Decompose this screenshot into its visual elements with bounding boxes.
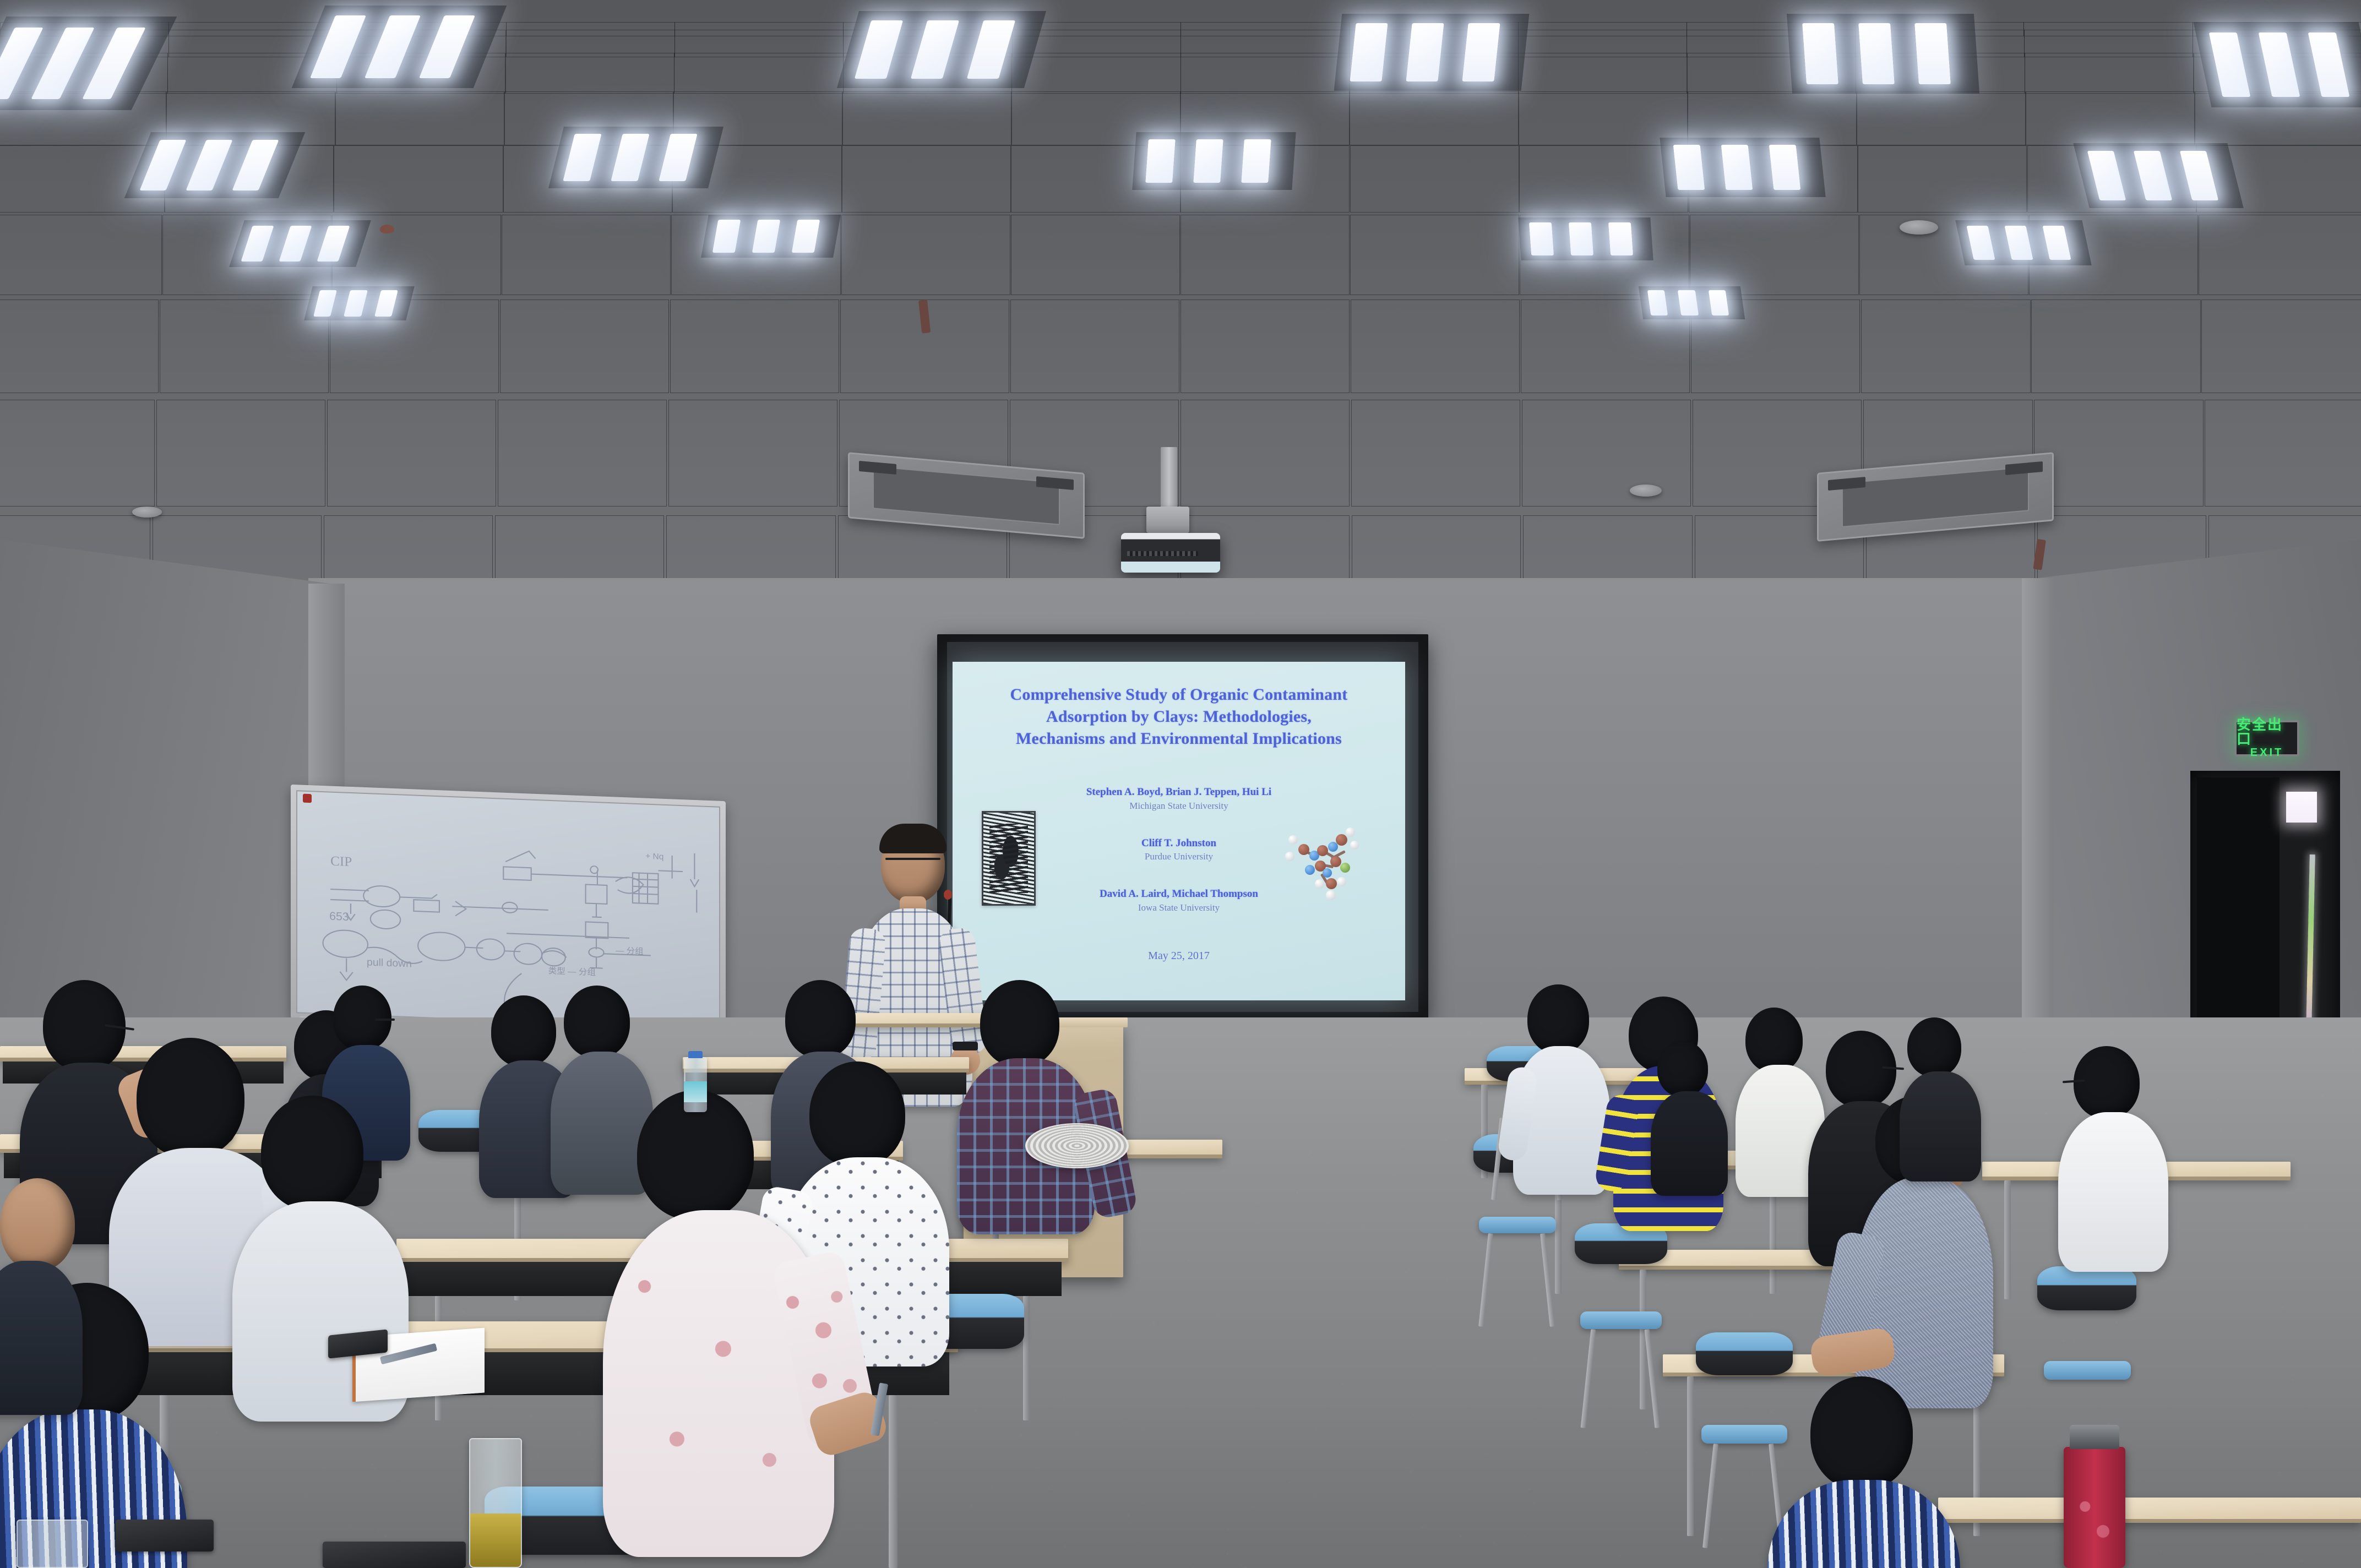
ceiling-light-fixture — [124, 132, 305, 198]
fluorescent-tube — [374, 290, 398, 316]
ceiling-light-fixture — [1955, 220, 2091, 265]
ceiling-tile — [1011, 215, 1180, 295]
ceiling-tile — [841, 215, 1010, 295]
fluorescent-tube — [1858, 23, 1895, 84]
fluorescent-tube — [310, 15, 366, 78]
fluorescent-tube — [855, 20, 903, 79]
lecture-hall-photo: 安全出口 EXIT 消火栓 CIP 653 — [0, 0, 2361, 1568]
woodcut-emblem-icon — [982, 811, 1036, 906]
attendee-torso — [2058, 1112, 2168, 1272]
atom-carbon — [1330, 856, 1341, 867]
svg-text:CIP: CIP — [330, 854, 352, 869]
author-group-1: Stephen A. Boyd, Brian J. Teppen, Hui Li… — [989, 785, 1369, 813]
desk — [1938, 1498, 2361, 1568]
fluorescent-tube — [313, 290, 337, 316]
fluorescent-tube — [2043, 226, 2071, 260]
exit-sign-chinese-label: 安全出口 — [2237, 717, 2297, 746]
ceiling-tile — [2026, 91, 2195, 145]
atom-hydrogen — [1285, 852, 1294, 861]
smoke-detector — [1630, 484, 1662, 497]
fluorescent-tube — [911, 20, 959, 79]
fluorescent-tube — [140, 140, 186, 190]
atom-hydrogen — [1337, 877, 1346, 886]
glass-cup[interactable] — [17, 1520, 88, 1568]
fluorescent-tube — [1608, 222, 1633, 255]
ceiling-tile — [2025, 53, 2194, 94]
svg-text:653: 653 — [329, 910, 349, 923]
fluorescent-tube — [2005, 226, 2033, 260]
sprinkler-head — [380, 225, 394, 233]
svg-text:类型 — 分组: 类型 — 分组 — [548, 966, 596, 977]
ceiling-tile — [156, 400, 325, 507]
atom-hydrogen — [1326, 890, 1336, 900]
fluorescent-tube — [2180, 151, 2218, 200]
projector — [1121, 533, 1220, 573]
ceiling-tile — [1180, 300, 1350, 393]
ceiling-tile — [0, 300, 159, 393]
fluorescent-tube — [1769, 145, 1801, 190]
atom-hydrogen — [1346, 827, 1355, 837]
fluorescent-tube — [1241, 139, 1271, 183]
water-bottle-cap — [688, 1051, 703, 1058]
fluorescent-tube — [1914, 23, 1951, 84]
ceiling-tile — [500, 300, 669, 393]
exit-sign-english-label: EXIT — [2250, 746, 2283, 759]
slide-title-line-2: Adsorption by Clays: Methodologies, — [966, 706, 1392, 728]
ceiling-light-fixture — [1639, 286, 1745, 319]
fluorescent-tube — [1529, 222, 1554, 255]
ceiling-light-fixture — [1132, 132, 1296, 190]
fluorescent-tube — [1647, 290, 1668, 315]
fluorescent-tube — [279, 226, 312, 262]
atom-nitrogen — [1323, 868, 1332, 878]
smoke-detector — [132, 507, 162, 518]
fluorescent-tube — [344, 290, 367, 316]
ceiling-light-fixture — [1518, 217, 1653, 260]
ceiling-tile — [2205, 400, 2361, 507]
red-thermos[interactable] — [2064, 1447, 2125, 1568]
fluorescent-tube — [241, 226, 274, 262]
water-bottle-label — [684, 1081, 707, 1102]
ceiling-light-fixture — [1334, 14, 1530, 91]
atom-nitrogen — [1305, 865, 1315, 875]
slide-title-line-3: Mechanisms and Environmental Implication… — [966, 728, 1392, 750]
fluorescent-tube — [1462, 23, 1500, 81]
ceiling-tile — [1180, 215, 1350, 295]
ceiling-tile — [1011, 53, 1180, 94]
slide-title: Comprehensive Study of Organic Contamina… — [966, 684, 1392, 750]
ceiling-tile — [2201, 300, 2361, 393]
ceiling-light-fixture — [1660, 138, 1825, 197]
fluorescent-tube — [1802, 23, 1838, 84]
fluorescent-tube — [563, 134, 602, 181]
ceiling-tile — [0, 215, 162, 295]
ceiling-tile — [1351, 300, 1520, 393]
attendee-torso — [551, 1052, 653, 1195]
ceiling-light-fixture — [701, 215, 841, 258]
fluorescent-tube — [31, 28, 95, 99]
water-bottle[interactable] — [684, 1057, 707, 1112]
ceiling-tile — [1861, 300, 2030, 393]
fluorescent-tube — [1350, 23, 1388, 81]
author-affiliation-1: Michigan State University — [989, 799, 1369, 813]
presentation-slide: Comprehensive Study of Organic Contamina… — [953, 662, 1405, 1000]
ceiling-tile — [2031, 300, 2200, 393]
fluorescent-tube — [1145, 139, 1176, 183]
ceiling-tile — [1180, 53, 1350, 94]
fluorescent-tube — [659, 134, 698, 181]
ceiling-tile — [1518, 53, 1687, 94]
ceiling-tile — [1350, 91, 1519, 145]
ceiling-tile — [334, 145, 503, 213]
ceiling-tile — [1180, 400, 1350, 507]
fluorescent-tube — [1678, 290, 1699, 315]
atom-chlorine — [1340, 863, 1350, 873]
ceiling-tile — [1857, 91, 2026, 145]
ceiling-tile — [1522, 400, 1691, 507]
author-names-1: Stephen A. Boyd, Brian J. Teppen, Hui Li — [989, 785, 1369, 799]
projector-mount — [1146, 507, 1189, 533]
atom-hydrogen — [1288, 835, 1298, 845]
ceiling-tile — [1350, 215, 1519, 295]
attendee-glasses — [375, 1019, 395, 1021]
ceiling-light-fixture — [548, 127, 723, 188]
fluorescent-tube — [1709, 290, 1729, 315]
fluorescent-tube — [1193, 139, 1223, 183]
ceiling-tile — [674, 53, 843, 94]
svg-text:pull down: pull down — [367, 957, 412, 970]
fluorescent-tube — [2208, 32, 2250, 97]
ceiling-light-fixture — [2073, 143, 2243, 208]
exit-sign: 安全出口 EXIT — [2234, 720, 2299, 756]
projector-pole — [1161, 447, 1177, 508]
ceiling-tile — [1858, 145, 2027, 213]
ceiling-tile — [1010, 300, 1179, 393]
ceiling-tile — [498, 400, 667, 507]
ceiling-tile — [160, 300, 329, 393]
presenter-head — [881, 826, 945, 903]
glass-tea-bottle[interactable] — [469, 1438, 522, 1568]
ceiling-light-fixture — [304, 286, 414, 320]
fluorescent-tube — [2087, 151, 2126, 200]
ceiling-light-fixture — [229, 220, 371, 267]
fluorescent-tube — [1406, 23, 1444, 81]
fluorescent-tube — [611, 134, 650, 181]
fluorescent-tube — [317, 226, 350, 262]
fluorescent-tube — [1569, 222, 1593, 255]
presenter-glasses — [885, 858, 940, 860]
fluorescent-tube — [365, 15, 421, 78]
slide-date: May 25, 2017 — [989, 950, 1369, 962]
thermos-cap[interactable] — [2070, 1425, 2119, 1449]
ceiling-tile — [668, 400, 837, 507]
atom-hydrogen — [1315, 879, 1324, 889]
attendee-torso — [1651, 1091, 1728, 1196]
fluorescent-tube — [967, 20, 1015, 79]
ceiling-tile — [502, 215, 671, 295]
fluorescent-tube — [712, 220, 741, 252]
svg-text:+ Nq: + Nq — [645, 852, 663, 862]
ceiling-tile — [2034, 400, 2203, 507]
attendee-torso — [0, 1261, 83, 1415]
fluorescent-tube — [82, 28, 146, 99]
ceiling-tile — [842, 145, 1011, 213]
ceiling-light-fixture — [292, 6, 507, 88]
whiteboard-magnet[interactable] — [303, 794, 312, 803]
ball-and-stick-molecule-icon — [1283, 824, 1375, 907]
atom-carbon — [1326, 878, 1337, 889]
microphone-head — [944, 890, 952, 900]
ceiling-light-fixture — [837, 11, 1046, 88]
fluorescent-tube — [186, 140, 232, 190]
fluorescent-tube — [2258, 32, 2300, 97]
ceiling-light-fixture — [1787, 14, 1979, 94]
fluorescent-tube — [792, 220, 820, 252]
ceiling-tile — [0, 400, 155, 507]
ceiling-tile — [505, 53, 674, 94]
ceiling-tile — [2199, 215, 2361, 295]
atom-hydrogen — [1350, 841, 1359, 850]
svg-text:— 分组: — 分组 — [616, 946, 644, 956]
ceiling-tile — [670, 300, 839, 393]
wall-column — [2022, 578, 2054, 1074]
atom-carbon — [1336, 834, 1347, 846]
fluorescent-tube — [1721, 145, 1753, 190]
coiled-extension-cord[interactable] — [1025, 1123, 1129, 1168]
ceiling-tile — [1690, 215, 1859, 295]
ceiling-tile — [327, 400, 496, 507]
attendee-torso — [1900, 1071, 1981, 1182]
fluorescent-tube — [1967, 226, 1995, 260]
door-light-top — [2286, 792, 2317, 823]
ceiling-tile — [842, 91, 1011, 145]
ceiling-tile — [1350, 145, 1519, 213]
fluorescent-tube — [2308, 32, 2349, 97]
fluorescent-tube — [752, 220, 780, 252]
attendee-torso — [1856, 1177, 1993, 1408]
fluorescent-tube — [2134, 151, 2172, 200]
ceiling-tile — [335, 91, 504, 145]
tablet-device[interactable] — [323, 1542, 466, 1568]
ceiling-light-fixture — [2194, 22, 2361, 107]
fluorescent-tube — [419, 15, 475, 78]
fluorescent-tube — [1673, 145, 1705, 190]
smartphone[interactable] — [116, 1520, 214, 1551]
fluorescent-tube — [232, 140, 279, 190]
ceiling-tile — [1351, 400, 1520, 507]
slide-title-line-1: Comprehensive Study of Organic Contamina… — [966, 684, 1392, 706]
smoke-detector — [1900, 220, 1938, 235]
